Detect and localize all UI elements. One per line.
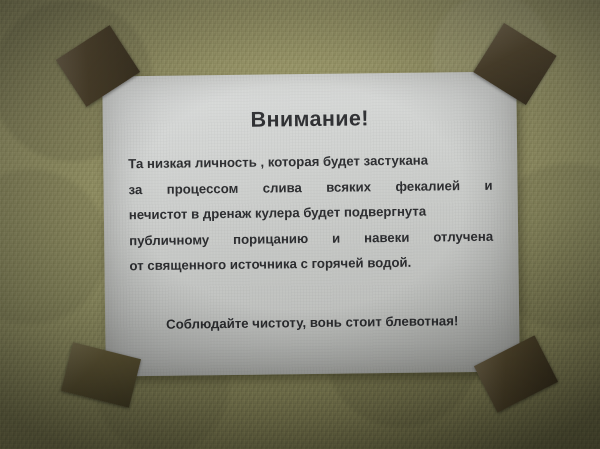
photograph: Внимание! Та низкая личность , которая б…: [0, 0, 600, 449]
photo-vignette: [0, 0, 600, 449]
